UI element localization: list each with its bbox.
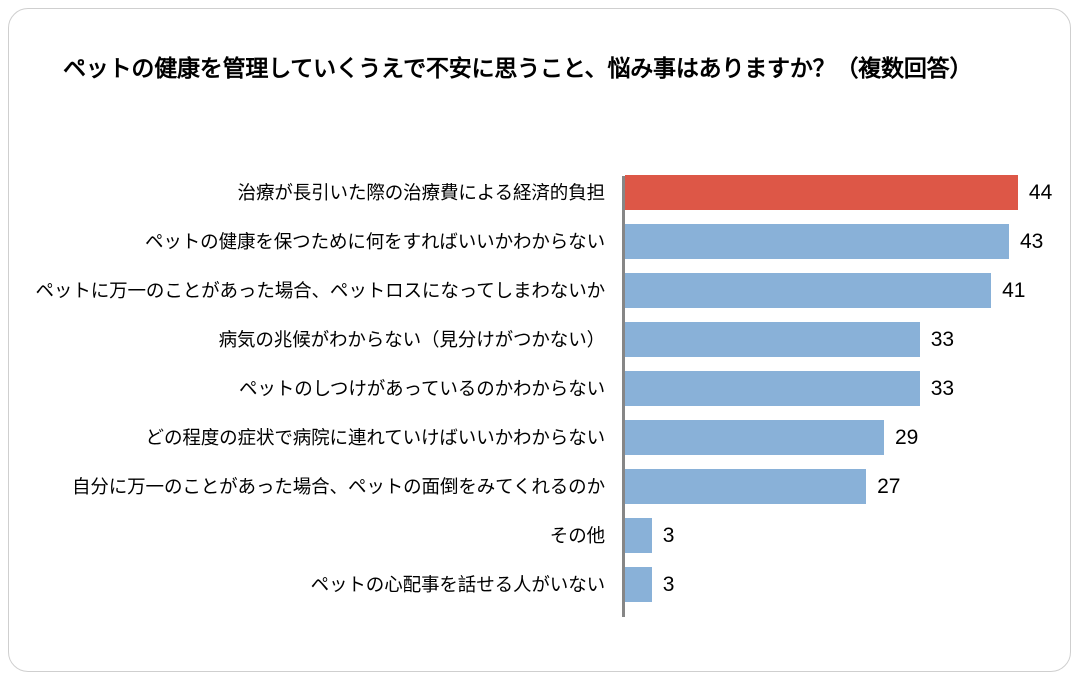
bar-row: ペットに万一のことがあった場合、ペットロスになってしまわないか41 xyxy=(9,266,1072,315)
bar-value-label: 44 xyxy=(1029,168,1052,217)
bar-category-label: ペットの健康を保つために何をすればいいかわからない xyxy=(145,217,605,266)
bar xyxy=(625,567,652,602)
bar-value-label: 33 xyxy=(931,315,954,364)
bar-category-label: ペットに万一のことがあった場合、ペットロスになってしまわないか xyxy=(36,266,605,315)
bar-category-label: その他 xyxy=(550,511,605,560)
bar xyxy=(625,518,652,553)
chart-card: ペットの健康を管理していくうえで不安に思うこと、悩み事はありますか？（複数回答）… xyxy=(8,8,1071,672)
bar xyxy=(625,469,866,504)
bar-value-label: 41 xyxy=(1002,266,1025,315)
chart-title: ペットの健康を管理していくうえで不安に思うこと、悩み事はありますか？（複数回答） xyxy=(63,49,1043,83)
bar-row: ペットの健康を保つために何をすればいいかわからない43 xyxy=(9,217,1072,266)
bar-category-label: 病気の兆候がわからない（見分けがつかない） xyxy=(219,315,605,364)
bar-value-label: 3 xyxy=(663,560,675,609)
bar-row: ペットのしつけがあっているのかわからない33 xyxy=(9,364,1072,413)
bar-row: 病気の兆候がわからない（見分けがつかない）33 xyxy=(9,315,1072,364)
bar-category-label: 自分に万一のことがあった場合、ペットの面倒をみてくれるのか xyxy=(72,462,605,511)
bar-value-label: 27 xyxy=(877,462,900,511)
bar-row: 治療が長引いた際の治療費による経済的負担44 xyxy=(9,168,1072,217)
bar-row: どの程度の症状で病院に連れていけばいいかわからない29 xyxy=(9,413,1072,462)
bar-category-label: どの程度の症状で病院に連れていけばいいかわからない xyxy=(146,413,605,462)
plot-area: 治療が長引いた際の治療費による経済的負担44ペットの健康を保つために何をすればい… xyxy=(9,168,1072,628)
bar-value-label: 43 xyxy=(1020,217,1043,266)
bar-row: ペットの心配事を話せる人がいない3 xyxy=(9,560,1072,609)
bar xyxy=(625,224,1009,259)
bar-row: 自分に万一のことがあった場合、ペットの面倒をみてくれるのか27 xyxy=(9,462,1072,511)
bar-category-label: 治療が長引いた際の治療費による経済的負担 xyxy=(238,168,605,217)
bar-value-label: 3 xyxy=(663,511,675,560)
bar-category-label: ペットのしつけがあっているのかわからない xyxy=(239,364,605,413)
bar-value-label: 29 xyxy=(895,413,918,462)
bar xyxy=(625,175,1018,210)
bar-value-label: 33 xyxy=(931,364,954,413)
bar xyxy=(625,420,884,455)
bar-row: その他3 xyxy=(9,511,1072,560)
bar-category-label: ペットの心配事を話せる人がいない xyxy=(311,560,605,609)
bar xyxy=(625,273,991,308)
bar xyxy=(625,322,920,357)
bar xyxy=(625,371,920,406)
